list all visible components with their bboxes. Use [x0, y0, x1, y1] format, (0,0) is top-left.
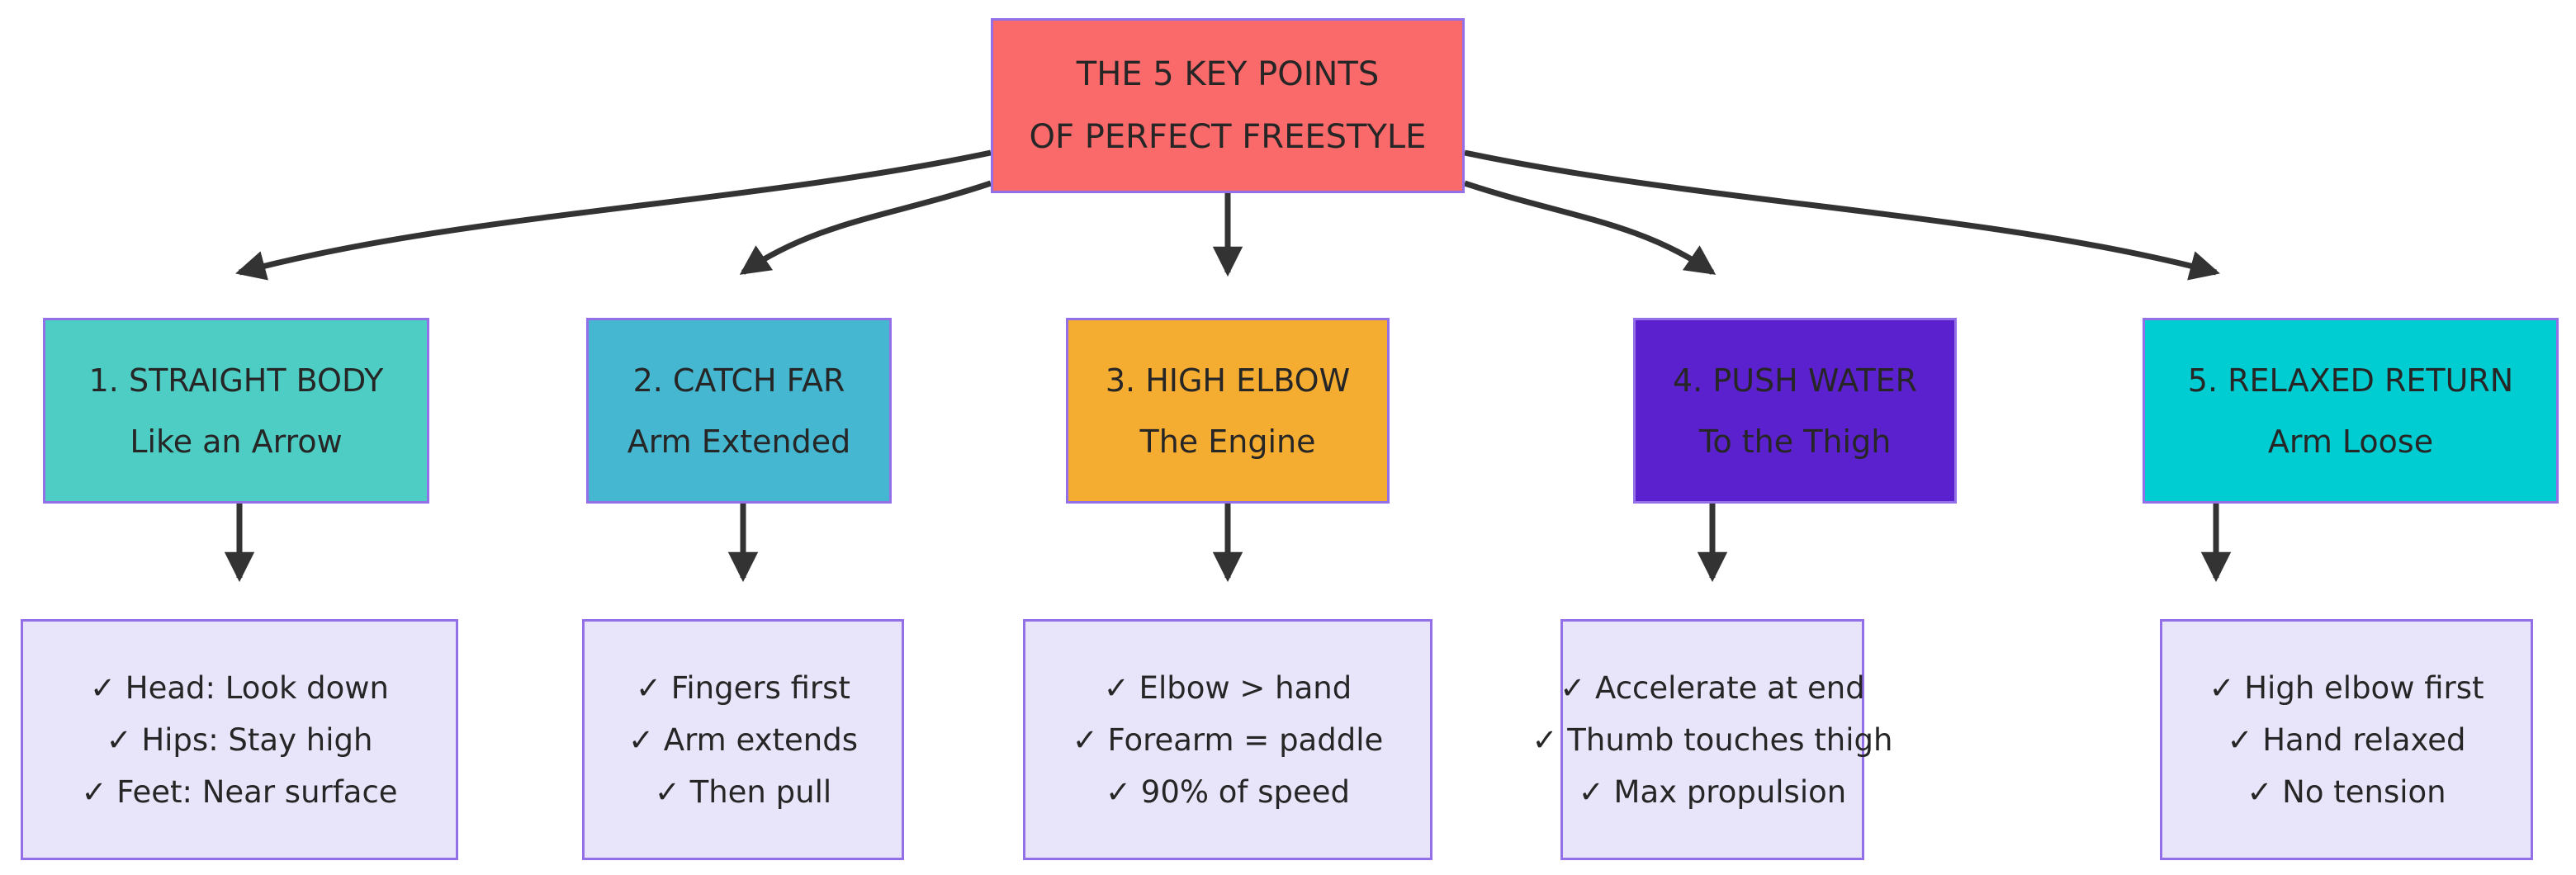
keypoint-heading: 2. CATCH FAR: [633, 365, 845, 396]
detail-item: ✓ 90% of speed: [1106, 777, 1350, 807]
keypoint-heading: 3. HIGH ELBOW: [1106, 365, 1350, 396]
diagram-canvas: THE 5 KEY POINTS OF PERFECT FREESTYLE 1.…: [0, 0, 2576, 875]
keypoint-heading: 4. PUSH WATER: [1673, 365, 1917, 396]
keypoint-node-5[interactable]: 5. RELAXED RETURN Arm Loose: [2143, 318, 2559, 504]
root-title-line-2: OF PERFECT FREESTYLE: [1030, 121, 1427, 154]
detail-item: ✓ Hand relaxed: [2227, 725, 2465, 755]
edge-root-to-keypoint-1: [239, 153, 991, 272]
detail-item: ✓ Feet: Near surface: [81, 777, 397, 807]
detail-item: ✓ No tension: [2247, 777, 2446, 807]
detail-node-2[interactable]: ✓ Fingers first ✓ Arm extends ✓ Then pul…: [582, 619, 904, 860]
detail-item: ✓ High elbow first: [2209, 673, 2484, 703]
detail-item: ✓ Arm extends: [628, 725, 858, 755]
keypoint-subheading: The Engine: [1140, 426, 1316, 457]
edge-root-to-keypoint-5: [1465, 153, 2216, 272]
detail-node-5[interactable]: ✓ High elbow first ✓ Hand relaxed ✓ No t…: [2160, 619, 2533, 860]
keypoint-node-2[interactable]: 2. CATCH FAR Arm Extended: [586, 318, 892, 504]
keypoint-subheading: To the Thigh: [1699, 426, 1892, 457]
keypoint-subheading: Like an Arrow: [130, 426, 342, 457]
keypoint-node-4[interactable]: 4. PUSH WATER To the Thigh: [1633, 318, 1957, 504]
keypoint-node-1[interactable]: 1. STRAIGHT BODY Like an Arrow: [43, 318, 429, 504]
keypoint-heading: 1. STRAIGHT BODY: [89, 365, 384, 396]
keypoint-subheading: Arm Extended: [627, 426, 851, 457]
detail-item: ✓ Forearm = paddle: [1073, 725, 1384, 755]
root-title-line-1: THE 5 KEY POINTS: [1077, 58, 1379, 91]
detail-item: ✓ Head: Look down: [90, 673, 389, 703]
detail-node-3[interactable]: ✓ Elbow > hand ✓ Forearm = paddle ✓ 90% …: [1023, 619, 1432, 860]
detail-item: ✓ Fingers first: [636, 673, 850, 703]
detail-item: ✓ Thumb touches thigh: [1532, 725, 1893, 755]
edge-root-to-keypoint-4: [1465, 183, 1712, 272]
edge-root-to-keypoint-2: [743, 183, 991, 272]
keypoint-heading: 5. RELAXED RETURN: [2188, 365, 2513, 396]
root-node[interactable]: THE 5 KEY POINTS OF PERFECT FREESTYLE: [991, 18, 1465, 193]
keypoint-node-3[interactable]: 3. HIGH ELBOW The Engine: [1066, 318, 1390, 504]
detail-node-1[interactable]: ✓ Head: Look down ✓ Hips: Stay high ✓ Fe…: [21, 619, 458, 860]
detail-item: ✓ Then pull: [655, 777, 831, 807]
detail-item: ✓ Accelerate at end: [1560, 673, 1864, 703]
keypoint-subheading: Arm Loose: [2268, 426, 2433, 457]
detail-node-4[interactable]: ✓ Accelerate at end ✓ Thumb touches thig…: [1560, 619, 1864, 860]
detail-item: ✓ Hips: Stay high: [107, 725, 373, 755]
detail-item: ✓ Max propulsion: [1579, 777, 1846, 807]
detail-item: ✓ Elbow > hand: [1104, 673, 1352, 703]
